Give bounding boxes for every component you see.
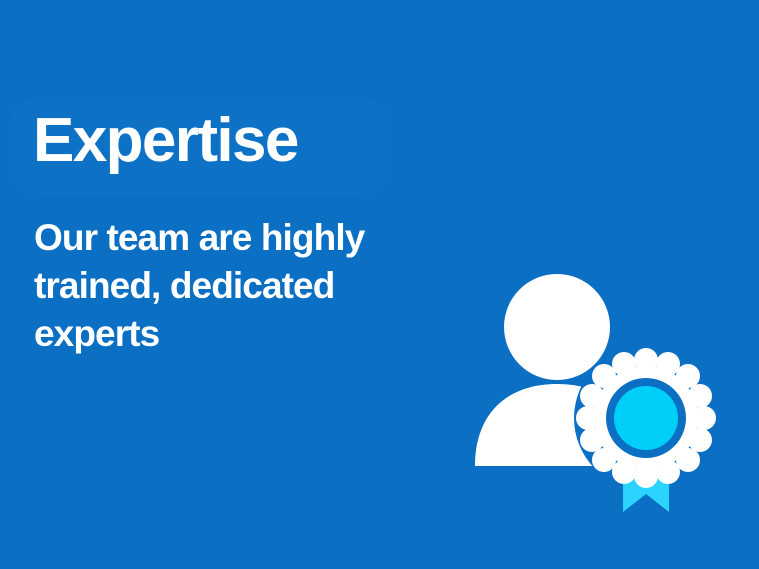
subtitle-line-3: experts: [34, 310, 474, 358]
page-title: Expertise: [33, 104, 298, 178]
badge-center-medallion: [614, 386, 678, 450]
person-with-award-badge-icon: [455, 262, 720, 522]
subtitle: Our team are highly trained, dedicated e…: [34, 214, 474, 358]
person-head-shape: [504, 274, 610, 380]
subtitle-line-1: Our team are highly: [34, 214, 474, 262]
expertise-slide: Expertise Our team are highly trained, d…: [0, 0, 759, 569]
subtitle-line-2: trained, dedicated: [34, 262, 474, 310]
